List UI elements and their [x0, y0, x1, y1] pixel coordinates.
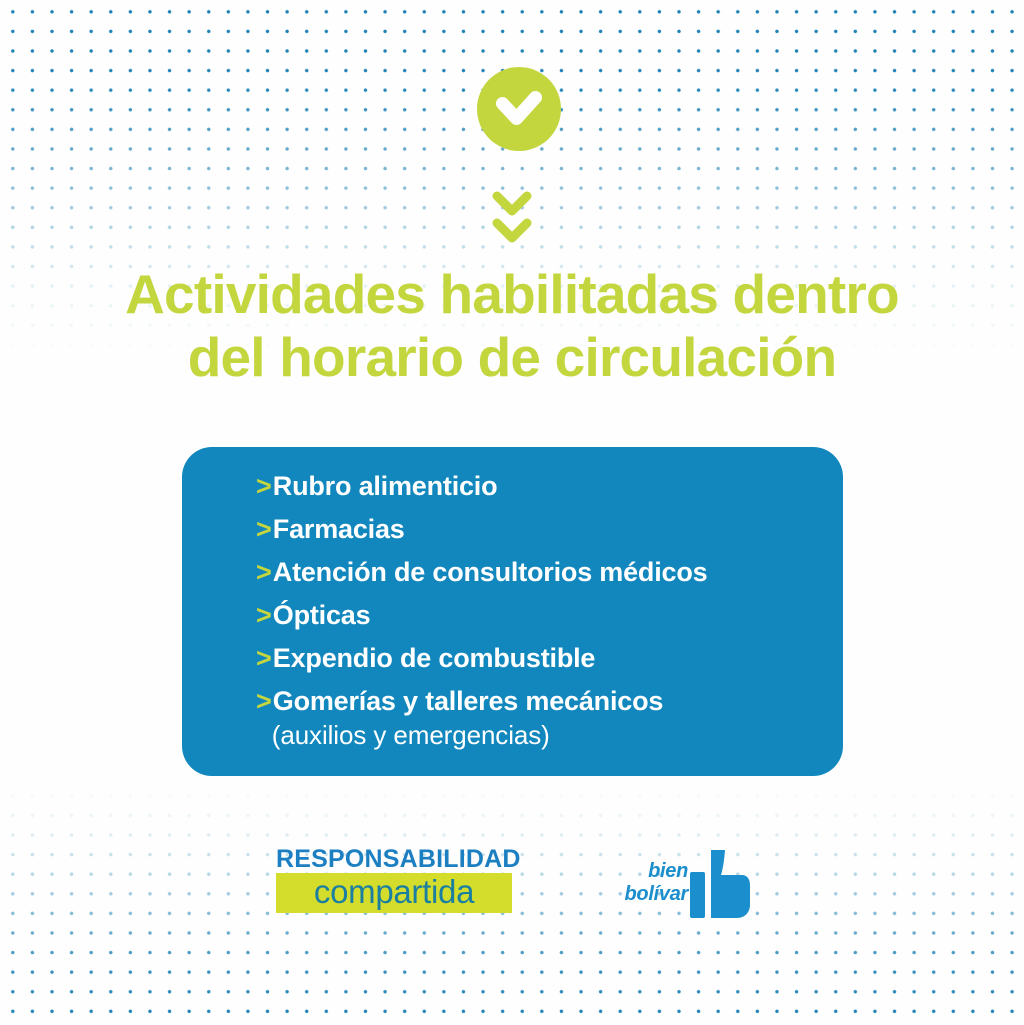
responsabilidad-text: RESPONSABILIDAD: [276, 846, 512, 872]
check-circle-icon: [477, 67, 561, 151]
allowed-activities-panel: > Rubro alimenticio > Farmacias > Atenci…: [182, 447, 843, 776]
bolivar-text: bolívar: [610, 883, 688, 906]
bien-bolivar-logo: bien bolívar: [610, 850, 750, 920]
b-thumb-icon: [690, 850, 750, 918]
chevron-right-marker-icon: >: [256, 598, 272, 633]
bien-bolivar-wordmark: bien bolívar: [610, 860, 688, 906]
list-item-label: Gomerías y talleres mecánicos: [273, 686, 663, 716]
chevron-right-marker-icon: >: [256, 555, 272, 590]
footer-logos: RESPONSABILIDAD compartida bien bolívar: [0, 846, 1024, 926]
list-item: > Rubro alimenticio: [256, 469, 816, 504]
list-item-label: Atención de consultorios médicos: [273, 555, 708, 590]
list-item: > Farmacias: [256, 512, 816, 547]
responsabilidad-compartida-logo: RESPONSABILIDAD compartida: [276, 846, 512, 913]
list-item-label: Farmacias: [273, 512, 405, 547]
list-item: > Expendio de combustible: [256, 641, 816, 676]
list-item: > Atención de consultorios médicos: [256, 555, 816, 590]
list-item: > Ópticas: [256, 598, 816, 633]
list-item-label: Ópticas: [273, 598, 371, 633]
allowed-activities-list: > Rubro alimenticio > Farmacias > Atenci…: [256, 469, 816, 760]
compartida-highlight: compartida: [276, 873, 512, 913]
list-item-label-group: Gomerías y talleres mecánicos (auxilios …: [273, 684, 663, 752]
list-item-sublabel: (auxilios y emergencias): [272, 719, 663, 752]
compartida-text: compartida: [280, 873, 508, 911]
page-title: Actividades habilitadas dentro del horar…: [92, 263, 932, 389]
list-item: > Gomerías y talleres mecánicos (auxilio…: [256, 684, 816, 752]
chevron-right-marker-icon: >: [256, 512, 272, 547]
list-item-label: Rubro alimenticio: [273, 469, 498, 504]
bien-text: bien: [610, 860, 688, 883]
chevron-right-marker-icon: >: [256, 684, 272, 719]
poster-canvas: Actividades habilitadas dentro del horar…: [0, 0, 1024, 1025]
chevron-right-marker-icon: >: [256, 641, 272, 676]
list-item-label: Expendio de combustible: [273, 641, 595, 676]
chevron-right-marker-icon: >: [256, 469, 272, 504]
double-chevron-down-icon: [489, 190, 535, 246]
